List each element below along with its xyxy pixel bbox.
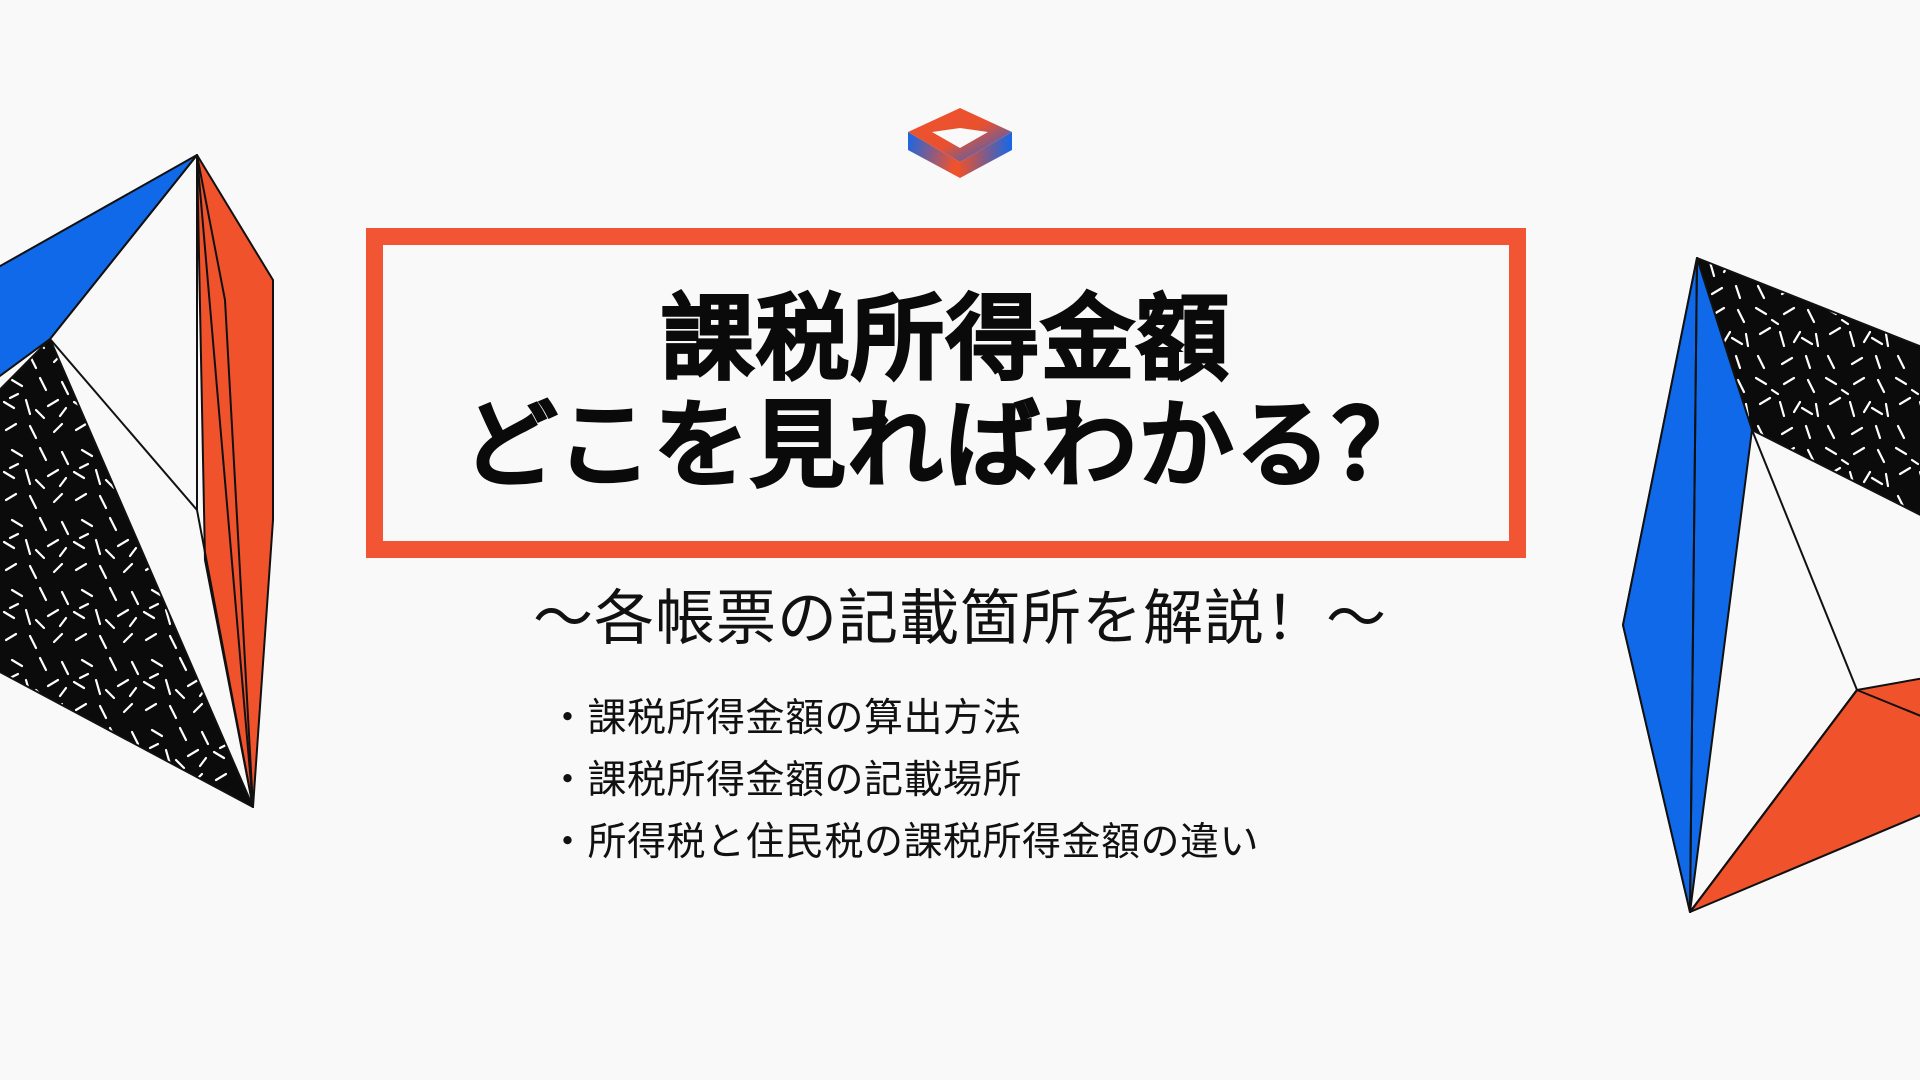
right-black-face xyxy=(1697,258,1920,545)
list-item: ・課税所得金額の記載場所 xyxy=(548,750,1448,812)
left-blue-face xyxy=(0,155,197,420)
brand-logo xyxy=(900,104,1020,182)
list-item: ・所得税と住民税の課税所得金額の違い xyxy=(548,812,1448,874)
title-line-2: どこを見ればわかる？ xyxy=(462,393,1429,499)
right-orange-face xyxy=(1690,668,1920,912)
subtitle: 〜各帳票の記載箇所を解説！〜 xyxy=(0,570,1920,657)
title-frame: 課税所得金額 どこを見ればわかる？ xyxy=(366,228,1526,558)
left-orange-face-inner xyxy=(197,155,253,807)
list-item: ・課税所得金額の算出方法 xyxy=(548,688,1448,750)
bullet-list: ・課税所得金額の算出方法 ・課税所得金額の記載場所 ・所得税と住民税の課税所得金… xyxy=(548,688,1448,874)
slide-canvas: 課税所得金額 どこを見ればわかる？ 〜各帳票の記載箇所を解説！〜 ・課税所得金額… xyxy=(0,0,1920,1080)
left-orange-face xyxy=(197,155,273,807)
left-wire-edges xyxy=(50,155,253,807)
title-line-1: 課税所得金額 xyxy=(661,287,1231,391)
isometric-box-logo xyxy=(900,104,1020,182)
